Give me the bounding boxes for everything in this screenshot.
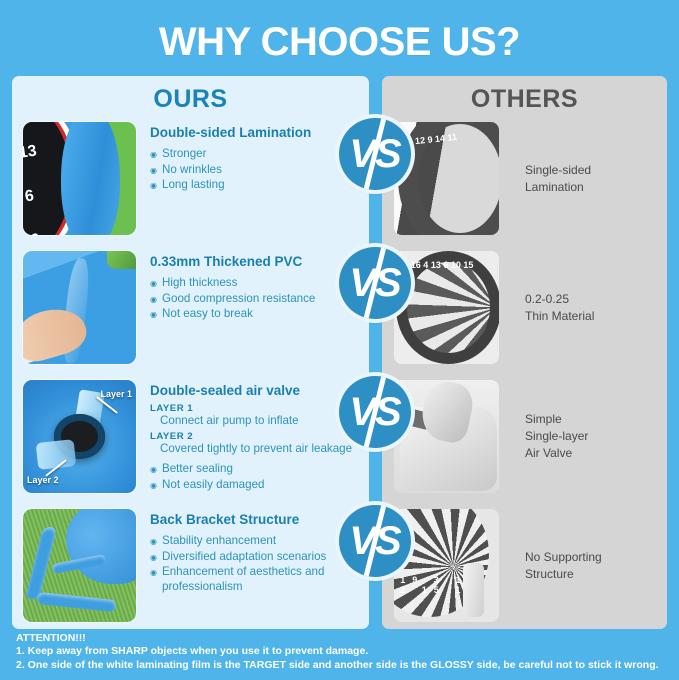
list-item: Better sealing	[150, 462, 352, 477]
attention-note: ATTENTION!!! 1. Keep away from SHARP obj…	[0, 628, 679, 680]
others-line: Simple	[525, 411, 588, 428]
ours-row-3-text: Double-sealed air valve LAYER 1 Connect …	[136, 380, 352, 493]
others-row-3-text: Simple Single-layer Air Valve	[499, 380, 588, 493]
others-line: 0.2-0.25	[525, 291, 594, 308]
layer-1-text: Connect air pump to inflate	[150, 414, 352, 428]
ours-row-3: Layer 1 Layer 2 Double-sealed air valve …	[12, 380, 369, 509]
vs-badge-4: VS	[339, 505, 411, 577]
page-title: WHY CHOOSE US?	[0, 0, 679, 76]
vs-badge-1: VS	[339, 118, 411, 190]
others-row-2-text: 0.2-0.25 Thin Material	[499, 251, 594, 364]
list-item: No wrinkles	[150, 163, 311, 178]
feature-title: 0.33mm Thickened PVC	[150, 254, 315, 270]
list-item: Not easy to break	[150, 307, 315, 322]
others-row-1: 12 9 14 11 Single-sided Lamination	[382, 122, 667, 251]
list-item: Diversified adaptation scenarios	[150, 550, 359, 565]
grass-corner	[107, 251, 136, 269]
ours-row-2: 0.33mm Thickened PVC High thickness Good…	[12, 251, 369, 380]
list-item: High thickness	[150, 276, 315, 291]
list-item: Good compression resistance	[150, 292, 315, 307]
attention-line-2: 2. One side of the white laminating film…	[16, 659, 665, 673]
list-item: Stronger	[150, 147, 311, 162]
layer2-photo-label: Layer 2	[27, 475, 59, 485]
double-sealed-air-valve-photo: Layer 1 Layer 2	[23, 380, 136, 493]
layer-2-text: Covered tightly to prevent air leakage	[150, 442, 352, 456]
others-column-heading: OTHERS	[382, 76, 667, 122]
ours-rows: Double-sided Lamination Stronger No wrin…	[12, 122, 369, 638]
others-row-4: 19 3 17 2 15 10 No Supporting Structure	[382, 509, 667, 638]
ours-row-4-text: Back Bracket Structure Stability enhance…	[136, 509, 359, 596]
others-line: Structure	[525, 566, 602, 583]
comparison-columns: OURS Double-sided Lamination Stronger No…	[0, 76, 679, 629]
others-line: Single-layer	[525, 428, 588, 445]
dartboard-inflatable-edge-photo	[23, 122, 136, 235]
board-numbers: 12 9 14 11	[414, 127, 458, 152]
others-column: OTHERS 12 9 14 11 Single-sided Laminatio…	[382, 76, 667, 629]
others-line: Lamination	[525, 179, 591, 196]
list-item: Long lasting	[150, 178, 311, 193]
list-item: Stability enhancement	[150, 534, 359, 549]
vs-badge-2: VS	[339, 247, 411, 319]
board-numbers: 16 4 13 6 10 15	[411, 256, 474, 275]
feature-bullets: Stability enhancement Diversified adapta…	[150, 534, 359, 594]
others-rows: 12 9 14 11 Single-sided Lamination	[382, 122, 667, 638]
board-numbers: 19 3 17 2 15 10	[400, 575, 499, 595]
others-row-4-text: No Supporting Structure	[499, 509, 602, 622]
others-line: Air Valve	[525, 445, 588, 462]
ours-row-1-text: Double-sided Lamination Stronger No wrin…	[136, 122, 311, 194]
layer-1-label: LAYER 1	[150, 403, 352, 414]
pump-shape	[463, 563, 484, 617]
attention-heading: ATTENTION!!!	[16, 632, 665, 645]
inflatable-shape	[61, 122, 120, 235]
list-item: Not easily damaged	[150, 478, 352, 493]
list-item: Enhancement of aesthetics and profession…	[150, 565, 359, 594]
attention-line-1: 1. Keep away from SHARP objects when you…	[16, 645, 665, 659]
layer-2-label: LAYER 2	[150, 431, 352, 442]
why-choose-us-poster: WHY CHOOSE US? OURS Double-sided Laminat…	[0, 0, 679, 680]
others-row-2: 16 4 13 6 10 15 0.2-0.25 Thin Material	[382, 251, 667, 380]
layer1-photo-label: Layer 1	[100, 389, 132, 399]
others-line: No Supporting	[525, 549, 602, 566]
others-row-3: Simple Single-layer Air Valve	[382, 380, 667, 509]
feature-bullets: High thickness Good compression resistan…	[150, 276, 315, 322]
ours-column-heading: OURS	[12, 76, 369, 122]
ours-row-4: Back Bracket Structure Stability enhance…	[12, 509, 369, 638]
back-bracket-structure-photo	[23, 509, 136, 622]
feature-title: Double-sided Lamination	[150, 125, 311, 141]
others-row-1-text: Single-sided Lamination	[499, 122, 591, 235]
hand-pressing-pvc-photo	[23, 251, 136, 364]
ours-row-1: Double-sided Lamination Stronger No wrin…	[12, 122, 369, 251]
feature-bullets: Better sealing Not easily damaged	[150, 462, 352, 492]
feature-bullets: Stronger No wrinkles Long lasting	[150, 147, 311, 193]
others-line: Thin Material	[525, 308, 594, 325]
feature-title: Double-sealed air valve	[150, 383, 352, 399]
feature-title: Back Bracket Structure	[150, 512, 359, 528]
ours-row-2-text: 0.33mm Thickened PVC High thickness Good…	[136, 251, 315, 323]
vs-badge-3: VS	[339, 376, 411, 448]
ours-column: OURS Double-sided Lamination Stronger No…	[12, 76, 369, 629]
others-line: Single-sided	[525, 162, 591, 179]
